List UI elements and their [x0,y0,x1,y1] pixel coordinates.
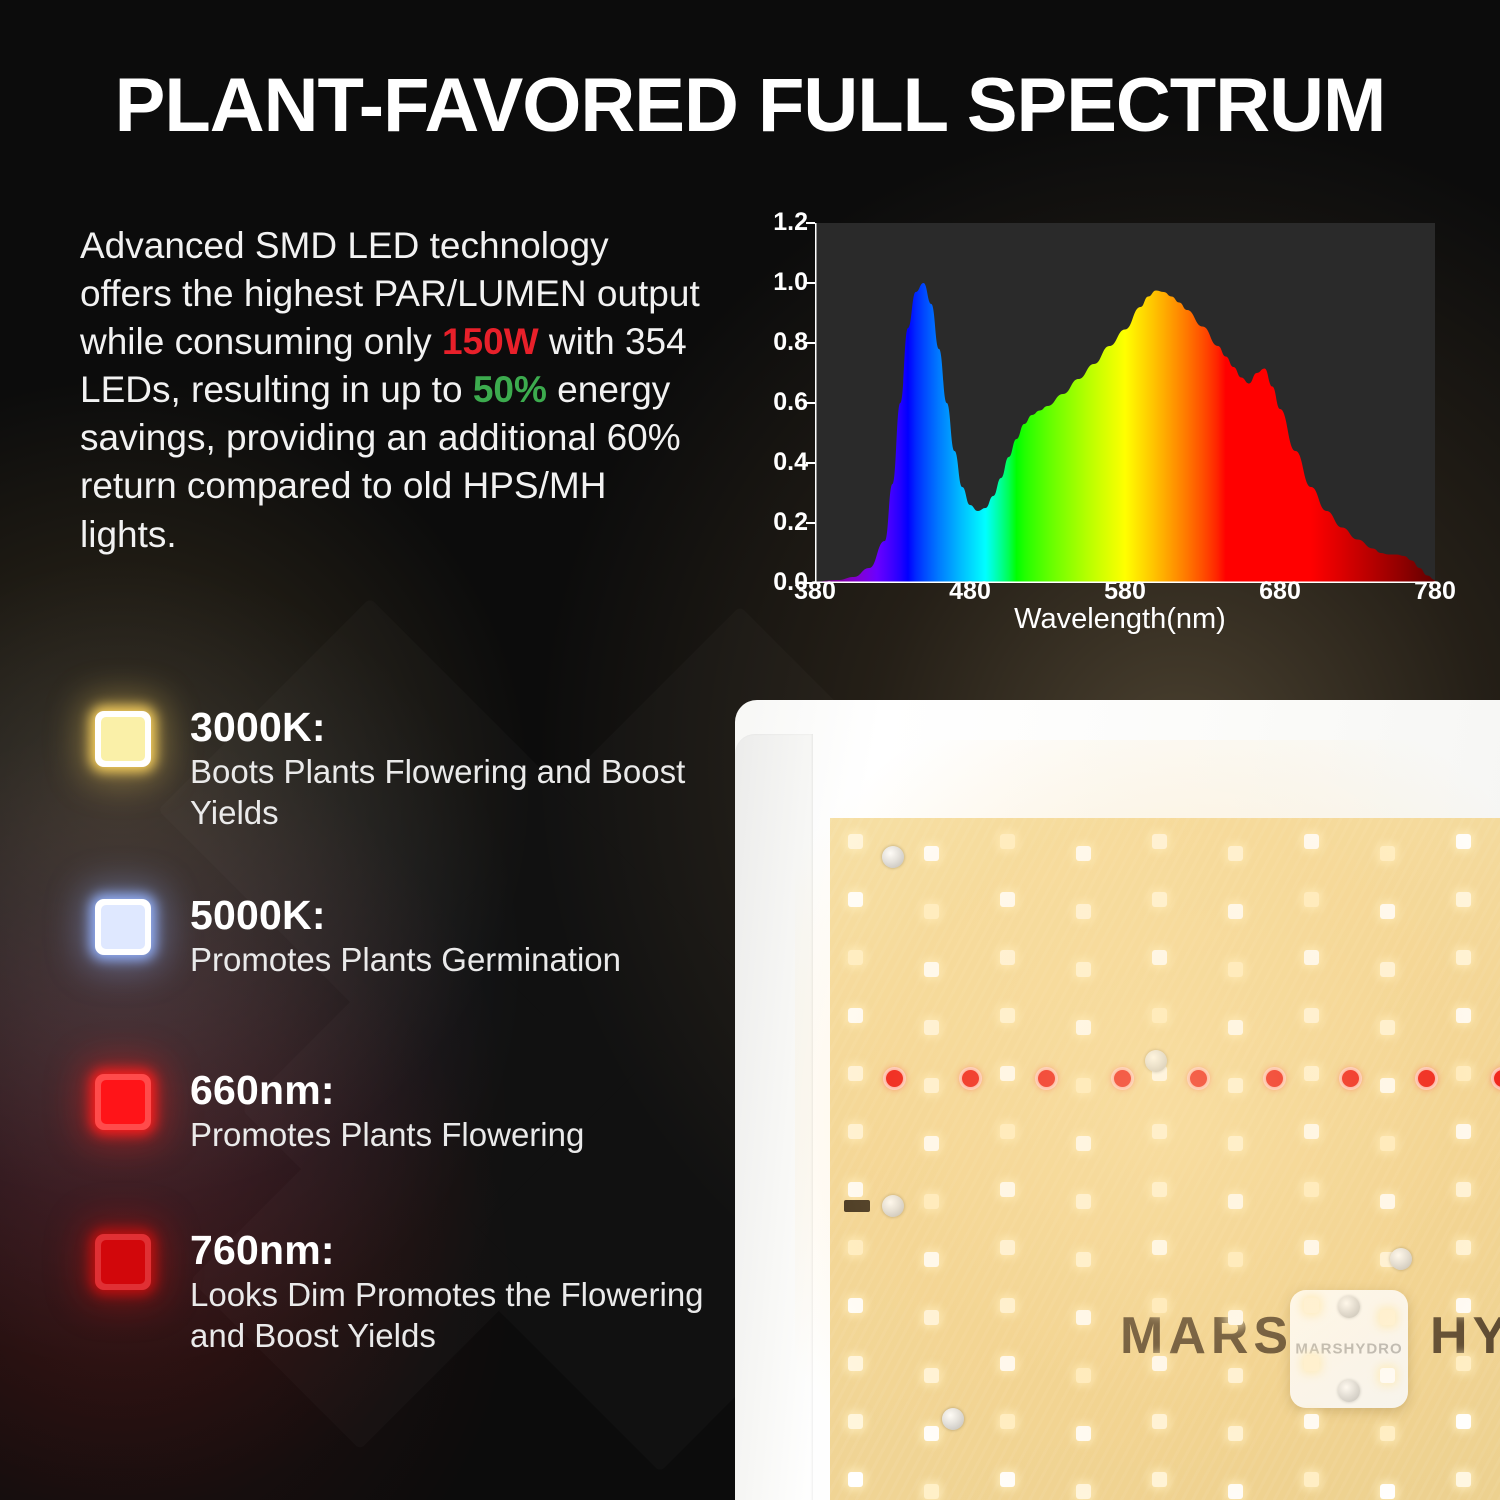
savings-highlight: 50% [473,369,547,410]
board-brand-left: MARS [1120,1306,1293,1366]
y-tick-mark [806,462,815,464]
led-chip-core [101,1240,145,1284]
x-tick-label: 780 [1414,577,1456,606]
led-diode [1380,1020,1395,1035]
x-tick-label: 480 [949,577,991,606]
led-diode [1076,1484,1091,1499]
y-tick-label: 0.4 [773,448,808,477]
led-spec-item: 5000K:Promotes Plants Germination [80,893,720,981]
led-diode [1380,1426,1395,1441]
y-tick-label: 0.2 [773,508,808,537]
led-board: MARS HY MARSHYDRO [830,818,1500,1500]
led-diode [848,1124,863,1139]
led-diode [848,1182,863,1197]
led-diode [1380,904,1395,919]
led-diode [848,1240,863,1255]
led-diode [1380,962,1395,977]
spectrum-curve [815,223,1435,583]
led-spec-title: 760nm: [190,1228,720,1272]
led-diode [1304,1472,1319,1487]
led-diode [1380,1194,1395,1209]
cool-white-led-chip [95,899,151,955]
connector-screw [882,1195,904,1217]
red-led-diode [1266,1070,1283,1087]
mounting-screw [942,1408,964,1430]
led-spec-item: 760nm:Looks Dim Promotes the Flowering a… [80,1228,720,1356]
y-tick-mark [806,522,815,524]
led-diode [1304,892,1319,907]
led-diode [1000,1008,1015,1023]
led-chip-core [101,905,145,949]
led-diode [924,1484,939,1499]
led-spec-item: 660nm:Promotes Plants Flowering [80,1068,720,1156]
led-diode [1152,1356,1167,1371]
led-diode [1228,1078,1243,1093]
red-led-diode [1190,1070,1207,1087]
led-spec-description: Looks Dim Promotes the Flowering and Boo… [190,1275,720,1356]
led-diode [1000,1356,1015,1371]
led-diode [1304,1182,1319,1197]
led-diode [1380,846,1395,861]
led-diode [1000,1240,1015,1255]
led-chip-core [101,717,145,761]
y-tick-mark [806,402,815,404]
led-diode [1152,1182,1167,1197]
led-chip-core [101,1080,145,1124]
led-diode [848,1472,863,1487]
far-red-led-chip [95,1234,151,1290]
led-diode [1456,1298,1471,1313]
led-diode [1380,1310,1395,1325]
led-diode [1076,1020,1091,1035]
red-led-diode [1494,1070,1500,1087]
mounting-screw [882,846,904,868]
led-diode [1076,846,1091,861]
red-led-diode [1418,1070,1435,1087]
led-spec-title: 5000K: [190,893,720,937]
led-spec-title: 660nm: [190,1068,720,1112]
led-diode [1456,1182,1471,1197]
led-diode [1228,1310,1243,1325]
led-diode [924,1310,939,1325]
led-diode [1304,1240,1319,1255]
led-spec-item: 3000K:Boots Plants Flowering and Boost Y… [80,705,720,833]
led-diode [1152,1124,1167,1139]
led-diode [924,904,939,919]
led-diode [1304,1298,1319,1313]
led-diode [1456,1240,1471,1255]
x-axis-label: Wavelength(nm) [775,603,1465,636]
led-spec-description: Boots Plants Flowering and Boost Yields [190,752,720,833]
panel-side-edge [735,734,813,1500]
led-diode [924,1194,939,1209]
x-tick-label: 380 [794,577,836,606]
led-diode [1456,1008,1471,1023]
driver-screw-bottom [1338,1380,1360,1402]
led-diode [924,846,939,861]
red-led-chip [95,1074,151,1130]
led-diode [1380,1136,1395,1151]
led-diode [1228,1484,1243,1499]
led-diode [1000,1124,1015,1139]
led-diode [848,1008,863,1023]
y-tick-mark [806,282,815,284]
led-diode [1380,1078,1395,1093]
warm-white-led-chip [95,711,151,767]
led-spec-title: 3000K: [190,705,720,749]
y-tick-label: 0.6 [773,388,808,417]
led-diode [1456,950,1471,965]
led-diode [924,1136,939,1151]
led-diode [1076,1194,1091,1209]
led-diode [1228,1194,1243,1209]
led-spec-description: Promotes Plants Flowering [190,1115,720,1155]
led-diode [1000,1066,1015,1081]
led-diode [1228,1368,1243,1383]
led-diode [1456,1414,1471,1429]
led-diode [924,962,939,977]
mounting-screw [1145,1050,1167,1072]
led-diode [1000,1414,1015,1429]
led-diode [1304,1008,1319,1023]
driver-screw-top [1338,1296,1360,1318]
led-diode [1152,1240,1167,1255]
led-diode [1380,1368,1395,1383]
led-diode [1076,962,1091,977]
led-diode [848,892,863,907]
led-diode [1456,834,1471,849]
led-spec-description: Promotes Plants Germination [190,940,720,980]
led-diode [848,1414,863,1429]
led-diode [1304,1124,1319,1139]
mounting-screw [1390,1248,1412,1270]
led-diode [1380,1484,1395,1499]
led-diode [924,1078,939,1093]
led-diode [1304,834,1319,849]
x-tick-label: 580 [1104,577,1146,606]
led-diode [924,1252,939,1267]
led-diode [848,950,863,965]
spectrum-chart: Spectrum 0.00.20.40.60.81.01.2 Wavelengt… [775,205,1465,645]
led-diode [1076,1368,1091,1383]
led-diode [1000,834,1015,849]
led-diode [1456,1356,1471,1371]
led-diode [1152,834,1167,849]
power-highlight: 150W [442,321,539,362]
y-tick-label: 1.2 [773,208,808,237]
led-diode [1304,1414,1319,1429]
product-feature-graphic: PLANT-FAVORED FULL SPECTRUM Advanced SMD… [0,0,1500,1500]
page-title: PLANT-FAVORED FULL SPECTRUM [85,62,1415,149]
led-diode [1456,1472,1471,1487]
led-diode [1456,892,1471,907]
red-led-diode [886,1070,903,1087]
y-tick-label: 0.8 [773,328,808,357]
led-diode [1076,1252,1091,1267]
led-diode [1228,846,1243,861]
chart-plot-area: 0.00.20.40.60.81.01.2 [815,223,1435,583]
led-diode [924,1020,939,1035]
led-diode [1000,1182,1015,1197]
y-tick-label: 1.0 [773,268,808,297]
led-diode [1076,1426,1091,1441]
led-diode [1076,1078,1091,1093]
led-diode [1076,1136,1091,1151]
description-paragraph: Advanced SMD LED technology offers the h… [80,222,710,559]
red-led-diode [962,1070,979,1087]
led-diode [1228,1426,1243,1441]
led-diode [1304,1356,1319,1371]
led-diode [848,1298,863,1313]
led-diode [1304,950,1319,965]
led-diode [1152,950,1167,965]
led-diode [1152,1298,1167,1313]
led-diode [1152,1472,1167,1487]
led-diode [848,1356,863,1371]
led-diode [1228,1252,1243,1267]
led-diode [1228,1136,1243,1151]
led-diode [1228,962,1243,977]
led-diode [1228,904,1243,919]
led-diode [1000,1298,1015,1313]
led-diode [1000,892,1015,907]
x-tick-label: 680 [1259,577,1301,606]
led-diode [848,834,863,849]
led-diode [1456,1066,1471,1081]
driver-label: MARSHYDRO [1290,1341,1408,1358]
y-tick-mark [806,222,815,224]
led-diode [1000,950,1015,965]
led-diode [1076,1310,1091,1325]
led-diode [1228,1020,1243,1035]
red-led-diode [1342,1070,1359,1087]
red-led-diode [1038,1070,1055,1087]
board-connector [844,1200,870,1212]
led-diode [1304,1066,1319,1081]
led-diode [848,1066,863,1081]
led-diode [1456,1124,1471,1139]
led-diode [1076,904,1091,919]
led-diode [1152,1414,1167,1429]
led-diode [924,1426,939,1441]
led-diode [1152,892,1167,907]
red-led-diode [1114,1070,1131,1087]
led-grow-light-panel: MARS HY MARSHYDRO [735,700,1500,1500]
led-diode [1000,1472,1015,1487]
led-diode [924,1368,939,1383]
led-diode [1152,1008,1167,1023]
y-tick-mark [806,342,815,344]
